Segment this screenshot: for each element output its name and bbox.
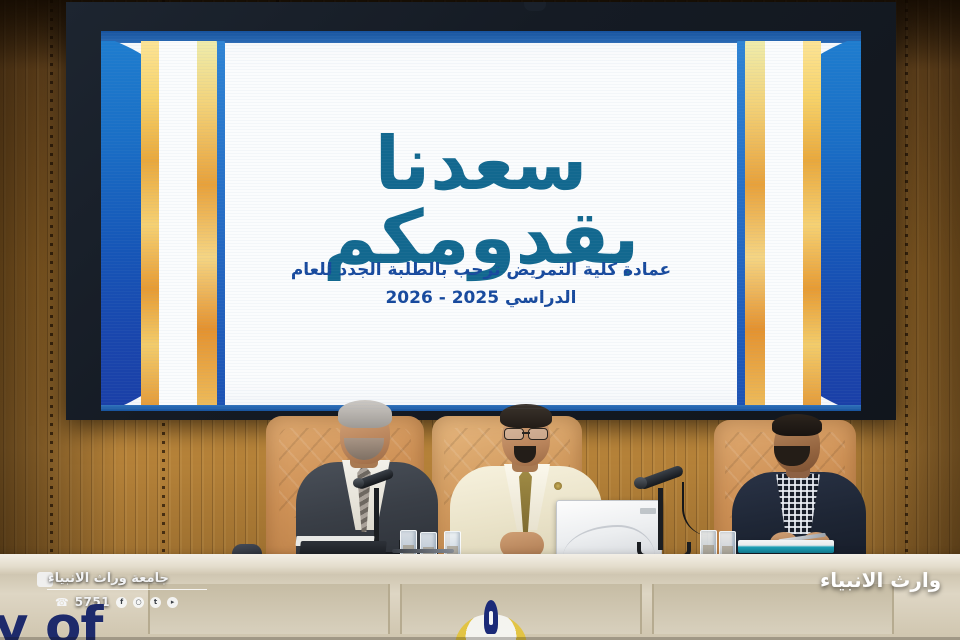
slide-right-ribbon-decor: [691, 41, 861, 405]
facebook-icon[interactable]: f: [116, 597, 127, 608]
slide-subtitle-line1: عمادة كلية التمريض ترحب بالطلبة الجدد لل…: [221, 256, 741, 284]
slide-subtitle-line2: الدراسي 2025 - 2026: [221, 284, 741, 312]
slide-subtitle: عمادة كلية التمريض ترحب بالطلبة الجدد لل…: [221, 256, 741, 312]
screen-mount-nub: [524, 2, 546, 11]
microphone-head: [353, 478, 364, 488]
panelist-left-hair: [338, 400, 392, 428]
slide-title: سعدنا بقدومكم: [251, 127, 711, 275]
slide-left-ribbon-decor: [101, 41, 271, 405]
microphone-stand: [658, 488, 663, 550]
pen-on-desk: [392, 549, 454, 553]
overlay-divider: [47, 589, 207, 590]
instagram-icon[interactable]: ○: [133, 597, 144, 608]
microphone-cable: [682, 482, 710, 536]
microphone-center: [632, 466, 692, 558]
panelist-center-hair: [500, 404, 552, 428]
book: [738, 540, 834, 553]
overlay-big-text: y of: [0, 600, 102, 640]
kufic-watermark: وارث الانبياء: [820, 568, 941, 592]
ribbon-gold-band-inner: [745, 41, 765, 405]
telegram-icon[interactable]: ▸: [167, 597, 178, 608]
glasses-icon: [504, 428, 548, 438]
ribbon-gold-band-inner: [197, 41, 217, 405]
conference-photo: سعدنا بقدومكم عمادة كلية التمريض ترحب با…: [0, 0, 960, 640]
university-emblem: OF WARITH: [455, 600, 527, 640]
lapel-pin-icon: [554, 482, 562, 490]
presentation-slide: سعدنا بقدومكم عمادة كلية التمريض ترحب با…: [101, 31, 861, 411]
panelist-right-hair: [772, 414, 822, 436]
pen-nib-icon: [484, 600, 498, 634]
twitter-icon[interactable]: t: [150, 597, 161, 608]
desk-front-panel: [148, 584, 390, 634]
microphone-stand: [374, 488, 379, 546]
microphone-head: [634, 477, 647, 489]
university-name-label: جامعة وراث الانبياء: [48, 571, 169, 586]
